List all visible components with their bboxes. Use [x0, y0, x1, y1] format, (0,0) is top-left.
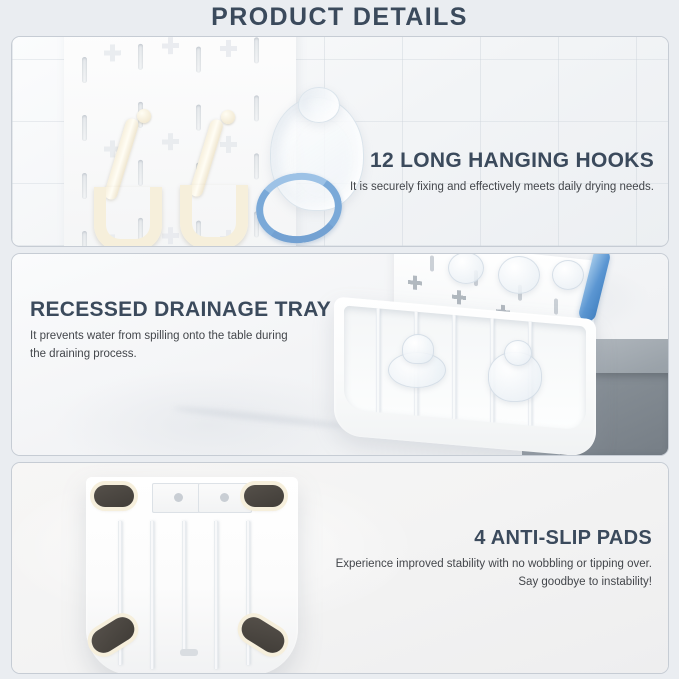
panel-1-text-block: 12 LONG HANGING HOOKS It is securely fix…	[334, 149, 654, 197]
pegboard-cross-hole	[104, 44, 121, 61]
panel-1-title: 12 LONG HANGING HOOKS	[334, 149, 654, 172]
tray-rib	[182, 521, 186, 653]
pegboard-slot	[82, 115, 87, 141]
panel-3-title: 4 ANTI-SLIP PADS	[312, 527, 652, 549]
tray-rib	[150, 521, 154, 669]
pegboard-slot	[254, 37, 259, 63]
panel-3-subtitle: Experience improved stability with no wo…	[312, 556, 652, 592]
scene-drainage-tray: RECESSED DRAINAGE TRAY It prevents water…	[12, 254, 668, 455]
pegboard-slot	[254, 153, 259, 179]
tray-rib	[452, 315, 456, 419]
bottle-nipple	[552, 260, 584, 290]
hook-curve	[94, 187, 162, 246]
pegboard-cross-hole	[220, 40, 237, 57]
panel-2-title: RECESSED DRAINAGE TRAY	[30, 298, 360, 321]
anti-slip-pad	[94, 485, 134, 507]
bottle-nipple	[298, 87, 340, 123]
drainage-tray	[334, 297, 596, 455]
pegboard-slot	[138, 44, 143, 70]
pegboard-slot	[196, 105, 201, 131]
anti-slip-pad	[244, 485, 284, 507]
pegboard-slot	[254, 95, 259, 121]
tray-rib	[246, 521, 250, 665]
panel-3-subtitle-line: Say goodbye to instability!	[312, 574, 652, 592]
tray-underside	[86, 477, 298, 673]
page-header: PRODUCT DETAILS	[0, 0, 679, 34]
bottle-nipple	[504, 340, 532, 366]
pegboard-cross-hole	[162, 133, 179, 150]
panel-2-text-block: RECESSED DRAINAGE TRAY It prevents water…	[30, 298, 360, 364]
tray-rib	[376, 308, 380, 412]
feature-panel-anti-slip-pads: 4 ANTI-SLIP PADS Experience improved sta…	[11, 462, 669, 674]
panel-1-subtitle-line: It is securely fixing and effectively me…	[334, 179, 654, 197]
feature-panel-recessed-drainage-tray: RECESSED DRAINAGE TRAY It prevents water…	[11, 253, 669, 456]
pegboard-cross-hole	[220, 136, 237, 153]
panel-2-subtitle-line: It prevents water from spilling onto the…	[30, 328, 360, 346]
scene-anti-slip-pads: 4 ANTI-SLIP PADS Experience improved sta…	[12, 463, 668, 673]
pegboard-slot	[196, 47, 201, 73]
bottle-nipple	[402, 334, 434, 364]
anti-slip-pad	[237, 613, 289, 658]
feature-panel-long-hanging-hooks: 12 LONG HANGING HOOKS It is securely fix…	[11, 36, 669, 247]
tray-channel-area	[344, 305, 586, 430]
panel-3-text-block: 4 ANTI-SLIP PADS Experience improved sta…	[312, 527, 652, 592]
anti-slip-pad	[87, 613, 139, 658]
tray-mold-stamp	[180, 649, 198, 656]
pegboard-slot	[82, 173, 87, 199]
pegboard-slot	[82, 231, 87, 246]
scene-hanging-hooks: 12 LONG HANGING HOOKS It is securely fix…	[12, 37, 668, 246]
panel-1-subtitle: It is securely fixing and effectively me…	[334, 179, 654, 197]
pegboard-slot	[138, 160, 143, 186]
tray-rib	[214, 521, 218, 669]
hook-knob	[137, 109, 151, 123]
bottle-nipple	[498, 256, 540, 294]
pegboard-cross-hole	[162, 37, 179, 54]
hook-curve	[180, 185, 248, 246]
panel-3-subtitle-line: Experience improved stability with no wo…	[312, 556, 652, 574]
pegboard-slot	[430, 255, 434, 271]
pegboard-cross-hole	[162, 227, 179, 244]
pegboard-slot	[82, 57, 87, 83]
panel-2-subtitle: It prevents water from spilling onto the…	[30, 328, 360, 364]
page-title: PRODUCT DETAILS	[211, 3, 468, 32]
pegboard-slot	[554, 298, 558, 314]
pegboard-cross-hole	[408, 275, 422, 290]
panel-2-subtitle-line: the draining process.	[30, 346, 360, 364]
pegboard-cross-hole	[452, 290, 466, 305]
hook-knob	[221, 110, 235, 124]
product-details-infographic: PRODUCT DETAILS	[0, 0, 679, 679]
